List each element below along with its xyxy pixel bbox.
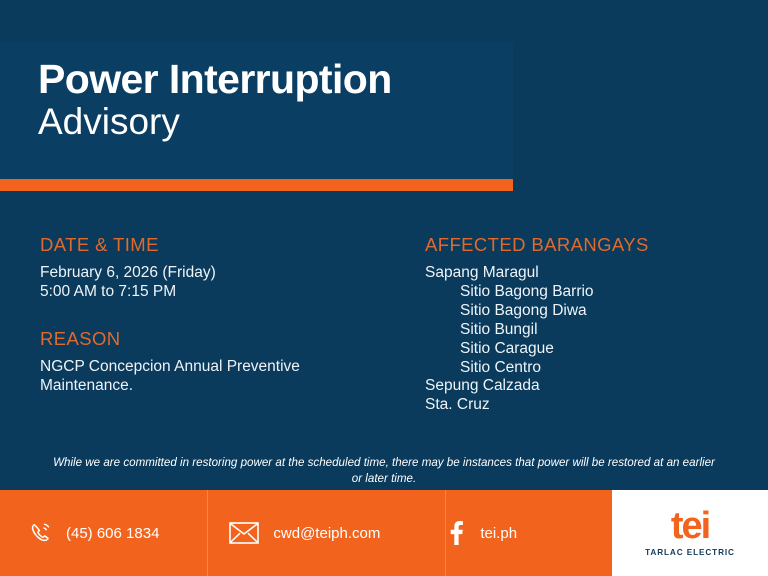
facebook-handle: tei.ph [480,525,517,542]
affected-barangays-heading: AFFECTED BARANGAYS [425,234,745,256]
list-item: Sitio Bungil [425,321,745,340]
details-column: DATE & TIME February 6, 2026 (Friday) 5:… [40,234,390,396]
footer-divider [207,490,208,576]
date-time-section: DATE & TIME February 6, 2026 (Friday) 5:… [40,234,390,302]
contact-facebook[interactable]: tei.ph [448,490,517,576]
time-value: 5:00 AM to 7:15 PM [40,283,390,302]
facebook-icon [448,520,464,546]
date-value: February 6, 2026 (Friday) [40,264,390,283]
disclaimer-text: While we are committed in restoring powe… [52,455,716,486]
reason-heading: REASON [40,328,390,350]
company-logo: tei TARLAC ELECTRIC [612,490,768,576]
list-item: Sitio Carague [425,340,745,359]
logo-wordmark: tei [671,509,709,544]
header-title-group: Power Interruption Advisory [38,58,508,142]
affected-barangays-section: AFFECTED BARANGAYS Sapang Maragul Sitio … [425,234,745,415]
reason-section: REASON NGCP Concepcion Annual Preventive… [40,328,390,396]
contact-phone[interactable]: (45) 606 1834 [28,490,159,576]
list-item: Sitio Bagong Barrio [425,283,745,302]
list-item: Sta. Cruz [425,396,745,415]
page-title: Power Interruption [38,58,508,101]
header-accent-bar [0,179,513,191]
advisory-poster: Power Interruption Advisory DATE & TIME … [0,0,768,576]
envelope-icon [229,522,259,544]
phone-number: (45) 606 1834 [66,525,159,542]
list-item: Sitio Centro [425,359,745,378]
footer-contacts: (45) 606 1834 cwd@teiph.com [0,490,612,576]
affected-barangays-list: Sapang Maragul Sitio Bagong Barrio Sitio… [425,264,745,415]
list-item: Sapang Maragul [425,264,745,283]
contact-email[interactable]: cwd@teiph.com [229,490,380,576]
reason-value: NGCP Concepcion Annual Preventive Mainte… [40,358,350,396]
email-address: cwd@teiph.com [273,525,380,542]
phone-icon [28,520,54,546]
page-subtitle: Advisory [38,101,508,142]
date-time-heading: DATE & TIME [40,234,390,256]
logo-tagline: TARLAC ELECTRIC [645,548,735,557]
list-item: Sitio Bagong Diwa [425,302,745,321]
section-spacer [40,302,390,328]
footer-divider [445,490,446,576]
list-item: Sepung Calzada [425,377,745,396]
